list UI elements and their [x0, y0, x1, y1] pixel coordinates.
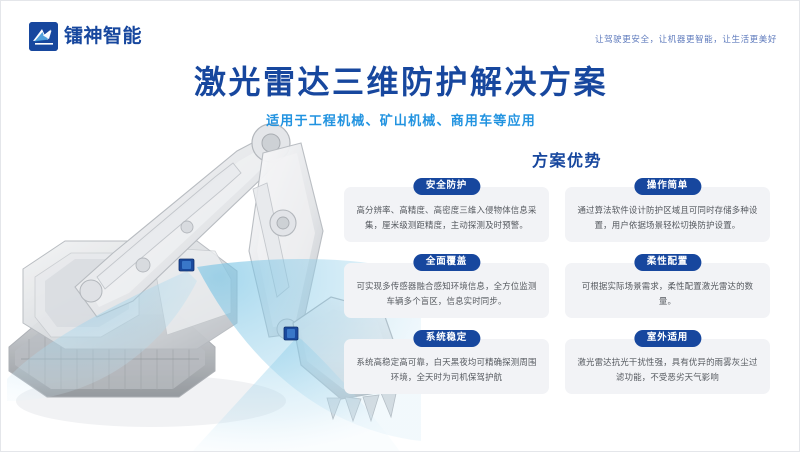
advantage-card-full-coverage[interactable]: 全面覆盖 可实现多传感器融合感知环境信息，全方位监测车辆多个盲区，信息实时同步。 [344, 263, 549, 318]
advantage-badge: 柔性配置 [634, 254, 701, 271]
brand-name: 镭神智能 [64, 27, 142, 46]
advantages-card-grid: 安全防护 高分辨率、高精度、高密度三维入侵物体信息采集，厘米级测距精度，主动探测… [341, 187, 793, 394]
advantage-badge: 全面覆盖 [413, 254, 480, 271]
advantage-card-outdoor-ready[interactable]: 室外适用 激光雷达抗光干扰性强，具有优异的雨雾灰尘过滤功能，不受恶劣天气影响 [565, 339, 770, 394]
hero-title-block: 激光雷达三维防护解决方案 适用于工程机械、矿山机械、商用车等应用 [1, 63, 800, 129]
advantage-card-safety[interactable]: 安全防护 高分辨率、高精度、高密度三维入侵物体信息采集，厘米级测距精度，主动探测… [344, 187, 549, 242]
page-title: 激光雷达三维防护解决方案 [1, 63, 800, 101]
advantage-body: 可根据实际场景需求，柔性配置激光雷达的数量。 [576, 279, 759, 308]
leishen-lidar-logo-icon [29, 22, 58, 51]
brand-tagline: 让驾驶更安全，让机器更智能，让生活更美好 [595, 33, 777, 45]
advantage-card-flexible-config[interactable]: 柔性配置 可根据实际场景需求，柔性配置激光雷达的数量。 [565, 263, 770, 318]
advantage-card-system-stability[interactable]: 系统稳定 系统高稳定高可靠，白天黑夜均可精确探测周围环境，全天时为司机保驾护航 [344, 339, 549, 394]
advantage-badge: 系统稳定 [413, 330, 480, 347]
advantage-body: 激光雷达抗光干扰性强，具有优异的雨雾灰尘过滤功能，不受恶劣天气影响 [576, 355, 759, 384]
advantages-heading: 方案优势 [341, 147, 793, 171]
brand-logo[interactable]: 镭神智能 [29, 22, 142, 51]
page-header: 镭神智能 让驾驶更安全，让机器更智能，让生活更美好 [1, 1, 800, 61]
page-subtitle: 适用于工程机械、矿山机械、商用车等应用 [1, 110, 800, 129]
advantage-body: 通过算法软件设计防护区域且可同时存储多种设置，用户依据场景轻松切换防护设置。 [576, 203, 759, 232]
advantage-badge: 室外适用 [634, 330, 701, 347]
advantage-badge: 操作简单 [634, 178, 701, 195]
advantage-body: 可实现多传感器融合感知环境信息，全方位监测车辆多个盲区，信息实时同步。 [355, 279, 538, 308]
advantage-card-easy-operation[interactable]: 操作简单 通过算法软件设计防护区域且可同时存储多种设置，用户依据场景轻松切换防护… [565, 187, 770, 242]
advantage-body: 高分辨率、高精度、高密度三维入侵物体信息采集，厘米级测距精度，主动探测及时预警。 [355, 203, 538, 232]
promo-page: 镭神智能 让驾驶更安全，让机器更智能，让生活更美好 [0, 0, 800, 452]
advantages-section: 方案优势 安全防护 高分辨率、高精度、高密度三维入侵物体信息采集，厘米级测距精度… [341, 147, 793, 394]
advantage-body: 系统高稳定高可靠，白天黑夜均可精确探测周围环境，全天时为司机保驾护航 [355, 355, 538, 384]
advantage-badge: 安全防护 [413, 178, 480, 195]
